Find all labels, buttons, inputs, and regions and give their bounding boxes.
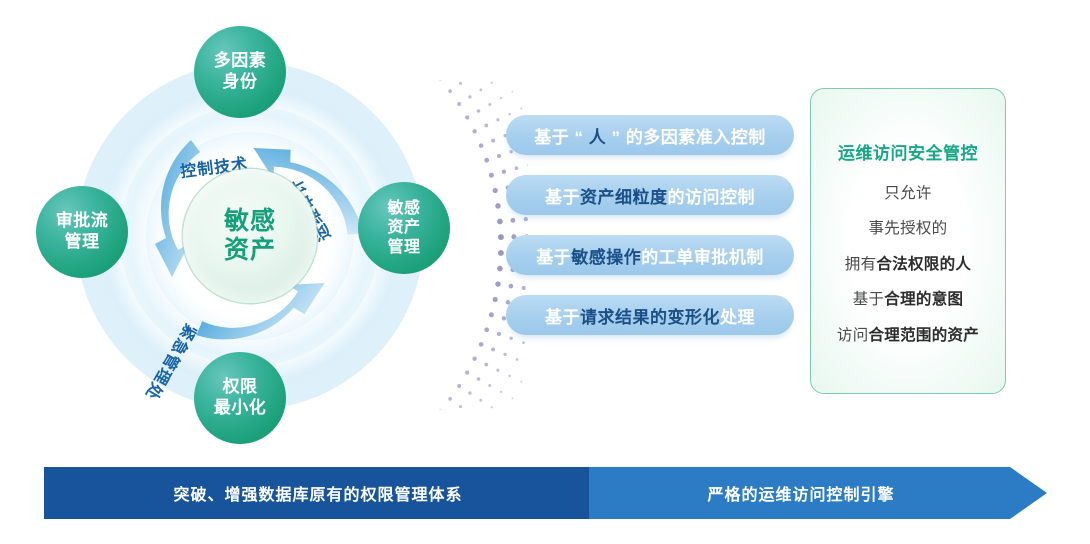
- banner-chevron-left[interactable]: 突破、增强数据库原有的权限管理体系: [44, 467, 626, 519]
- banner-chevron-right[interactable]: 严格的运维访问控制引擎: [589, 467, 1047, 519]
- bubble-approval-flow[interactable]: 审批流 管理: [36, 186, 128, 278]
- bubble-label-line-1: 多因素: [214, 51, 267, 72]
- diagram-canvas: 控制技术 运维审计 紧急管理处 敏感 资产 多因素 身份 审批流 管理 敏感 资…: [0, 0, 1090, 544]
- center-node: 敏感 资产: [183, 169, 317, 303]
- bubble-label-line-1: 敏感: [387, 199, 420, 219]
- bubble-label-line-3: 管理: [387, 238, 420, 258]
- bubble-label-line-1: 权限: [223, 377, 258, 398]
- pill-label: 基于请求结果的变形化处理: [545, 303, 755, 328]
- center-label-line-1: 敏感: [224, 207, 276, 237]
- bubble-sensitive-asset-mgmt[interactable]: 敏感 资产 管理: [358, 182, 450, 274]
- bubble-label-line-2: 管理: [65, 232, 100, 253]
- ops-access-security-panel: 运维访问安全管控 只允许 事先授权的 拥有合法权限的人 基于合理的意图 访问合理…: [810, 88, 1006, 394]
- bubble-label-line-2: 资产: [387, 218, 420, 238]
- pill-item[interactable]: 基于请求结果的变形化处理: [506, 295, 794, 335]
- pill-item[interactable]: 基于资产细粒度的访问控制: [506, 175, 794, 215]
- banner-right-label: 严格的运维访问控制引擎: [707, 481, 894, 505]
- bubble-multi-factor-identity[interactable]: 多因素 身份: [194, 26, 286, 118]
- pill-item[interactable]: 基于敏感操作的工单审批机制: [506, 235, 794, 275]
- pill-label: 基于 “ 人 ” 的多因素准入控制: [534, 123, 765, 148]
- panel-title: 运维访问安全管控: [838, 139, 978, 164]
- pill-label: 基于敏感操作的工单审批机制: [536, 243, 764, 268]
- bubble-label-line-2: 最小化: [214, 398, 267, 419]
- panel-line: 拥有合法权限的人: [845, 257, 971, 273]
- pill-item[interactable]: 基于 “ 人 ” 的多因素准入控制: [506, 115, 794, 155]
- panel-line: 事先授权的: [868, 221, 947, 237]
- bubble-least-privilege[interactable]: 权限 最小化: [194, 352, 286, 444]
- pill-label: 基于资产细粒度的访问控制: [545, 183, 755, 208]
- center-label-line-2: 资产: [224, 236, 276, 266]
- panel-line: 基于合理的意图: [853, 292, 964, 308]
- panel-line: 只允许: [884, 186, 931, 202]
- control-pill-list: 基于 “ 人 ” 的多因素准入控制 基于资产细粒度的访问控制 基于敏感操作的工单…: [506, 115, 794, 355]
- banner-left-label: 突破、增强数据库原有的权限管理体系: [173, 481, 462, 505]
- bubble-label-line-2: 身份: [223, 72, 258, 93]
- bottom-arrow-banner: 突破、增强数据库原有的权限管理体系 严格的运维访问控制引擎: [44, 467, 1047, 519]
- panel-line: 访问合理范围的资产: [837, 328, 979, 344]
- bubble-label-line-1: 审批流: [56, 211, 109, 232]
